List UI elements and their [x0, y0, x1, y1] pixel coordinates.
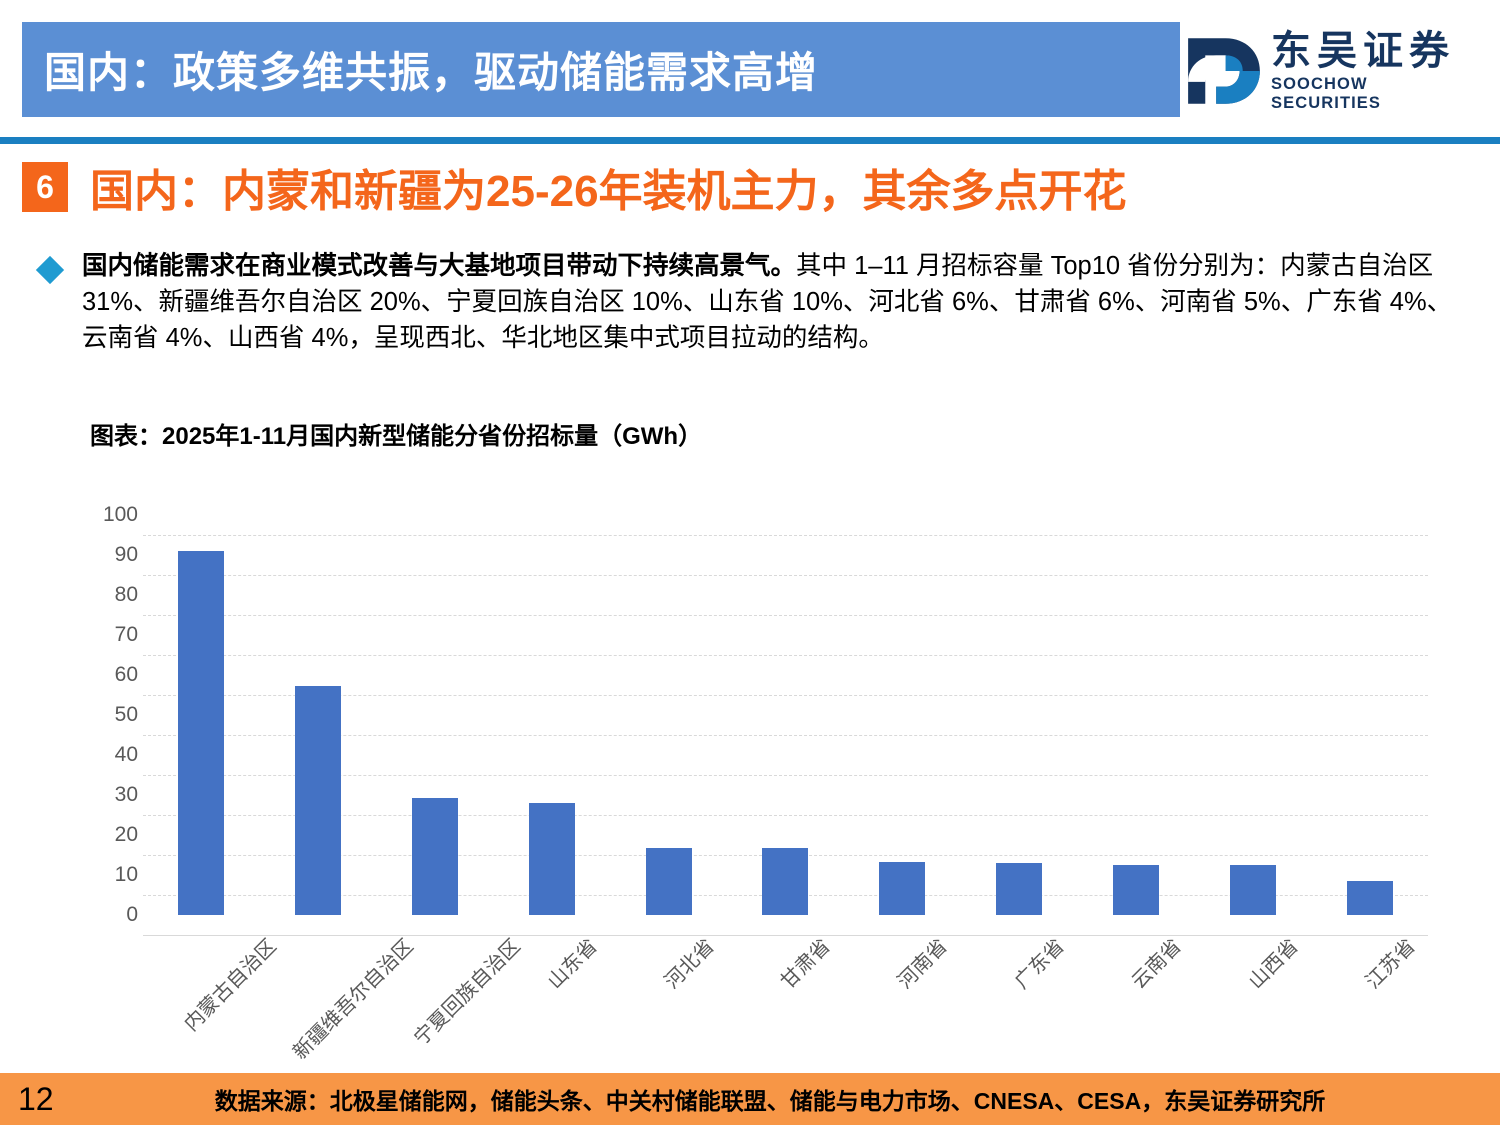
- y-axis-tick-label: 80: [78, 583, 138, 607]
- bar-slot[interactable]: [260, 515, 377, 915]
- x-label-slot: 甘肃省: [727, 927, 844, 1057]
- y-axis-tick-label: 20: [78, 823, 138, 847]
- x-label-slot: 内蒙古自治区: [143, 927, 260, 1057]
- x-label-slot: 广东省: [961, 927, 1078, 1057]
- bar-slot[interactable]: [1078, 515, 1195, 915]
- y-axis-tick-label: 10: [78, 863, 138, 887]
- y-axis-tick-label: 70: [78, 623, 138, 647]
- bar[interactable]: [412, 798, 458, 915]
- bar-slot[interactable]: [1311, 515, 1428, 915]
- bar-slot[interactable]: [493, 515, 610, 915]
- bar[interactable]: [1230, 865, 1276, 915]
- company-logo: 东吴证券 SOOCHOW SECURITIES: [1185, 28, 1475, 114]
- x-axis-tick-label: 甘肃省: [773, 931, 836, 994]
- x-label-slot: 山西省: [1194, 927, 1311, 1057]
- logo-english-name: SOOCHOW SECURITIES: [1271, 75, 1475, 113]
- page-title: 国内：政策多维共振，驱动储能需求高增: [22, 39, 818, 100]
- section-title-text: 国内：内蒙和新疆为25-26年装机主力，其余多点开花: [90, 155, 1127, 219]
- bar[interactable]: [646, 848, 692, 915]
- soochow-s-mark-icon: [1185, 35, 1263, 107]
- x-label-slot: 江苏省: [1311, 927, 1428, 1057]
- bar-slot[interactable]: [143, 515, 260, 915]
- bar-chart: 0102030405060708090100 内蒙古自治区新疆维吾尔自治区宁夏回…: [80, 495, 1430, 1055]
- bar[interactable]: [996, 863, 1042, 915]
- chart-caption: 图表：2025年1-11月国内新型储能分省份招标量（GWh）: [90, 416, 702, 451]
- slide-page: 国内：政策多维共振，驱动储能需求高增 东吴证券 SOOCHOW SECURITI…: [0, 0, 1500, 1125]
- y-axis-tick-label: 0: [78, 903, 138, 927]
- y-axis-tick-label: 60: [78, 663, 138, 687]
- bar-slot[interactable]: [1194, 515, 1311, 915]
- bar-slot[interactable]: [610, 515, 727, 915]
- bar-slot[interactable]: [377, 515, 494, 915]
- x-axis-tick-label: 山东省: [539, 931, 602, 994]
- bar[interactable]: [1113, 865, 1159, 915]
- y-axis-tick-label: 40: [78, 743, 138, 767]
- logo-chinese-name: 东吴证券: [1271, 30, 1455, 72]
- chart-x-axis: 内蒙古自治区新疆维吾尔自治区宁夏回族自治区山东省河北省甘肃省河南省广东省云南省山…: [143, 927, 1428, 1057]
- body-paragraph: 国内储能需求在商业模式改善与大基地项目带动下持续高景气。其中 1–11 月招标容…: [40, 248, 1472, 357]
- bar[interactable]: [879, 862, 925, 915]
- header-band: 国内：政策多维共振，驱动储能需求高增: [22, 22, 1180, 117]
- chart-plot-area: [143, 515, 1428, 915]
- bar[interactable]: [529, 803, 575, 915]
- y-axis-tick-label: 50: [78, 703, 138, 727]
- bar[interactable]: [762, 848, 808, 915]
- footer-band: 12 数据来源：北极星储能网，储能头条、中关村储能联盟、储能与电力市场、CNES…: [0, 1073, 1500, 1125]
- x-label-slot: 河南省: [844, 927, 961, 1057]
- header-divider-rule: [0, 137, 1500, 144]
- bar-slot[interactable]: [727, 515, 844, 915]
- x-label-slot: 河北省: [610, 927, 727, 1057]
- page-number: 12: [18, 1081, 54, 1118]
- chart-bars: [143, 515, 1428, 915]
- x-label-slot: 云南省: [1078, 927, 1195, 1057]
- x-label-slot: 新疆维吾尔自治区: [260, 927, 377, 1057]
- body-lead-bold: 国内储能需求在商业模式改善与大基地项目带动下持续高景气。: [82, 252, 796, 280]
- bar-slot[interactable]: [844, 515, 961, 915]
- x-axis-tick-label: 河南省: [890, 931, 953, 994]
- x-axis-tick-label: 山西省: [1240, 931, 1303, 994]
- body-text: 国内储能需求在商业模式改善与大基地项目带动下持续高景气。其中 1–11 月招标容…: [82, 248, 1472, 357]
- bar[interactable]: [178, 551, 224, 915]
- x-axis-tick-label: 云南省: [1123, 931, 1186, 994]
- y-axis-tick-label: 90: [78, 543, 138, 567]
- section-number-badge: 6: [22, 162, 68, 212]
- bar-slot[interactable]: [961, 515, 1078, 915]
- bar[interactable]: [1347, 881, 1393, 915]
- x-axis-tick-label: 河北省: [656, 931, 719, 994]
- y-axis-tick-label: 30: [78, 783, 138, 807]
- x-label-slot: 山东省: [493, 927, 610, 1057]
- x-label-slot: 宁夏回族自治区: [377, 927, 494, 1057]
- logo-text-block: 东吴证券 SOOCHOW SECURITIES: [1271, 30, 1475, 113]
- footer-source-text: 数据来源：北极星储能网，储能头条、中关村储能联盟、储能与电力市场、CNESA、C…: [0, 1082, 1500, 1116]
- x-axis-tick-label: 江苏省: [1357, 931, 1420, 994]
- x-axis-tick-label: 广东省: [1007, 931, 1070, 994]
- diamond-bullet-icon: [36, 256, 64, 284]
- section-heading: 6 国内：内蒙和新疆为25-26年装机主力，其余多点开花: [22, 155, 1127, 219]
- y-axis-tick-label: 100: [78, 503, 138, 527]
- bar[interactable]: [295, 686, 341, 915]
